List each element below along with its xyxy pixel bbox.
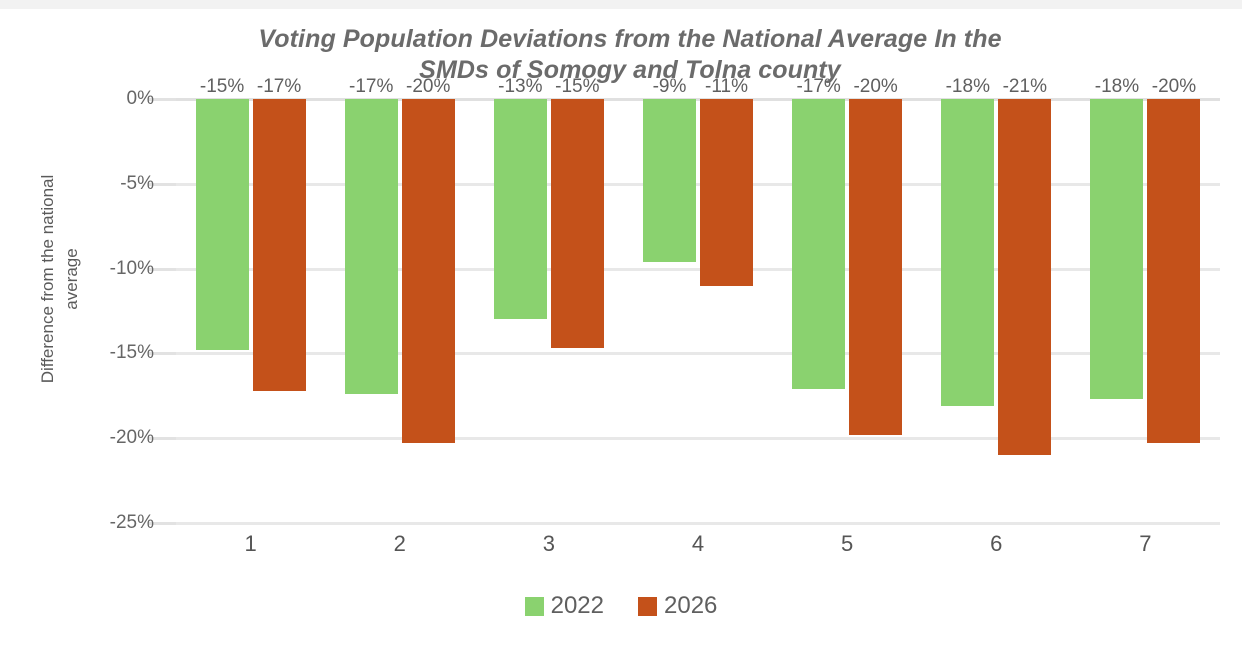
bar-2022-7[interactable]: [1090, 99, 1143, 399]
plot-area: 0%-5%-10%-15%-20%-25% -15%-17%-17%-20%-1…: [176, 99, 1220, 523]
chart-title: Voting Population Deviations from the Na…: [150, 24, 1110, 86]
legend-swatch-2022: [525, 597, 544, 616]
x-axis-label-3: 3: [543, 531, 555, 557]
bar-2022-6[interactable]: [941, 99, 994, 406]
bar-2026-2[interactable]: [402, 99, 455, 443]
bar-2022-1[interactable]: [196, 99, 249, 350]
x-axis-label-7: 7: [1139, 531, 1151, 557]
legend-label-2026: 2026: [664, 592, 717, 620]
bar-2026-7[interactable]: [1147, 99, 1200, 443]
bar-2026-1[interactable]: [253, 99, 306, 391]
x-axis-label-1: 1: [244, 531, 256, 557]
gridline: [176, 522, 1220, 525]
bar-2022-5[interactable]: [792, 99, 845, 389]
bar-2022-4[interactable]: [643, 99, 696, 262]
gridline: [176, 352, 1220, 355]
gridline: [176, 268, 1220, 271]
gridline: [176, 183, 1220, 186]
bar-2026-5[interactable]: [849, 99, 902, 435]
bar-2026-3[interactable]: [551, 99, 604, 348]
chart-container: Voting Population Deviations from the Na…: [0, 0, 1242, 664]
legend-swatch-2026: [638, 597, 657, 616]
x-axis-label-4: 4: [692, 531, 704, 557]
y-axis-tick-label: -25%: [34, 512, 154, 534]
y-axis-tick-label: -5%: [34, 173, 154, 195]
legend-item-2022[interactable]: 2022: [525, 592, 604, 620]
bar-2026-6[interactable]: [998, 99, 1051, 455]
gridline: [176, 437, 1220, 440]
x-axis-label-5: 5: [841, 531, 853, 557]
value-label-2026-7: -20%: [1152, 76, 1196, 98]
x-axis-label-6: 6: [990, 531, 1002, 557]
legend-label-2022: 2022: [551, 592, 604, 620]
top-band: [0, 0, 1242, 9]
chart-legend: 20222026: [0, 592, 1242, 620]
y-axis-tick-label: -10%: [34, 258, 154, 280]
bar-2022-2[interactable]: [345, 99, 398, 394]
chart-title-line-2: SMDs of Somogy and Tolna county: [150, 55, 1110, 86]
bar-2026-4[interactable]: [700, 99, 753, 286]
bar-2022-3[interactable]: [494, 99, 547, 319]
x-axis-label-2: 2: [394, 531, 406, 557]
y-axis-tick-label: -20%: [34, 427, 154, 449]
chart-title-line-1: Voting Population Deviations from the Na…: [150, 24, 1110, 55]
y-axis-tick-label: -15%: [34, 342, 154, 364]
legend-item-2026[interactable]: 2026: [638, 592, 717, 620]
y-axis-tick-label: 0%: [34, 88, 154, 110]
gridline: [176, 98, 1220, 101]
